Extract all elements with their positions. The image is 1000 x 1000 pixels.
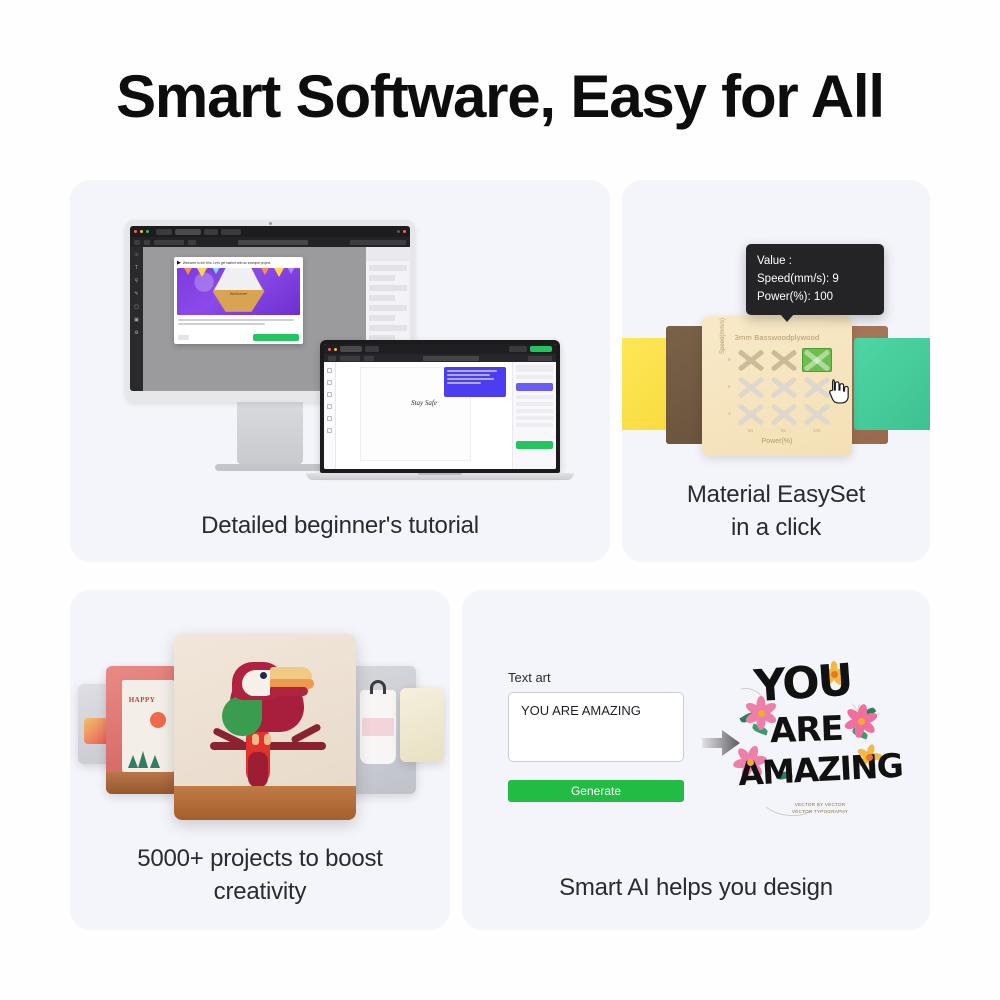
material-swatch-green[interactable] <box>854 338 930 430</box>
tab-item-active[interactable] <box>340 346 362 352</box>
laptop-right-panel <box>512 362 556 469</box>
laptop-left-toolbar <box>324 362 336 469</box>
layers-icon[interactable] <box>327 428 332 433</box>
window-close-icon[interactable] <box>403 230 406 233</box>
material-stage: 3mm Basswoodplywood Speed(mm/s) 60 80 10… <box>622 216 930 416</box>
laptop-cta-chip[interactable] <box>530 346 552 352</box>
x-tick-0: 60 <box>748 428 753 433</box>
pen-icon[interactable] <box>327 404 332 409</box>
panel-row[interactable] <box>369 275 395 281</box>
welcome-modal-header: ▶ Welcome to ed! Hhs. Let's get started … <box>174 257 303 268</box>
toolbar-forward-icon[interactable] <box>144 240 150 245</box>
tab-item-active[interactable] <box>175 229 201 235</box>
page-title: Smart Software, Easy for All <box>0 64 1000 130</box>
x-tick-2: 100 <box>813 428 821 433</box>
photo-holiday-card[interactable]: HAPPY <box>106 666 178 794</box>
pen-icon[interactable]: ✎ <box>134 291 140 297</box>
grid-cell[interactable] <box>769 348 799 372</box>
hero-label: Welcome! <box>230 291 248 297</box>
artwork-credit: VECTOR BY VECTOR VECTOR TYPOGRAPHY <box>792 802 848 816</box>
panel-row[interactable] <box>516 375 553 379</box>
test-grid: 60 80 100 9 6 3 <box>736 348 832 426</box>
laptop-canvas[interactable]: Stay Safe <box>336 362 512 469</box>
toolbar-icon[interactable] <box>528 356 552 361</box>
card-caption-projects: 5000+ projects to boost creativity <box>70 843 450 908</box>
panel-row[interactable] <box>369 265 407 271</box>
grid-cell[interactable] <box>736 375 766 399</box>
laptop-app-titlebar <box>324 344 556 354</box>
welcome-hero-image: Welcome! <box>177 268 300 315</box>
projects-gallery: HAPPY <box>70 614 450 834</box>
laptop-device: Stay Safe <box>320 340 560 480</box>
y-tick-0: 9 <box>728 357 731 362</box>
promo-page: Smart Software, Easy for All <box>0 0 1000 1000</box>
artwork-line-1: YOU <box>752 655 853 713</box>
monitor-stand-neck <box>237 402 303 464</box>
tab-item[interactable] <box>156 229 172 235</box>
search-icon[interactable]: ⚲ <box>134 278 140 284</box>
canvas-info-popup <box>444 367 506 397</box>
toolbar-menu[interactable] <box>154 240 184 245</box>
monitor-stand-foot <box>215 464 325 471</box>
document-title-chip <box>238 240 308 245</box>
caption-line-2: in a click <box>622 512 930 544</box>
minimize-icon[interactable] <box>334 348 337 351</box>
text-art-label: Text art <box>508 670 684 685</box>
value-tooltip: Value : Speed(mm/s): 9 Power(%): 100 <box>746 244 884 315</box>
skip-button[interactable] <box>178 335 189 340</box>
toolbar-back-icon[interactable] <box>134 240 140 245</box>
toolbar-right-chip[interactable] <box>350 240 406 245</box>
panel-row[interactable] <box>369 285 407 291</box>
card-material-easyset: 3mm Basswoodplywood Speed(mm/s) 60 80 10… <box>622 180 930 562</box>
card-detailed-tutorial: ☉ T ⚲ ✎ ▢ ▣ ⚙ ▶ Welco <box>70 180 610 562</box>
grid-cell-selected[interactable] <box>802 348 832 372</box>
panel-row[interactable] <box>516 416 553 420</box>
grid-cell[interactable] <box>769 375 799 399</box>
holiday-card-text: HAPPY <box>106 696 178 704</box>
photo-far-right[interactable] <box>400 688 444 762</box>
panel-row[interactable] <box>516 423 553 427</box>
panel-row[interactable] <box>516 409 553 413</box>
canvas-artwork-text: Stay Safe <box>411 399 437 407</box>
panel-primary-button[interactable] <box>516 383 553 391</box>
toolbar-title-chip <box>423 356 479 361</box>
card-caption-ai: Smart AI helps you design <box>462 872 930 904</box>
laptop-workspace: Stay Safe <box>324 362 556 469</box>
caption-line-2: creativity <box>70 876 450 908</box>
generate-button[interactable]: Generate <box>508 780 684 802</box>
artwork-line-3: AMAZING <box>737 746 903 794</box>
grid-cell[interactable] <box>802 402 832 426</box>
window-control-icon[interactable] <box>397 230 400 233</box>
card-smart-ai: Text art Generate <box>462 590 930 930</box>
left-toolbar: ☉ T ⚲ ✎ ▢ ▣ ⚙ <box>130 247 143 391</box>
photo-toucan-craft[interactable] <box>174 634 356 820</box>
image-icon[interactable]: ▣ <box>134 317 140 323</box>
minimize-icon[interactable] <box>140 230 143 233</box>
laptop-notch <box>418 473 462 475</box>
hand-cursor-icon <box>828 378 850 404</box>
tab-item[interactable] <box>365 346 379 352</box>
laptop-base <box>306 473 574 480</box>
flower-icon <box>844 704 878 738</box>
hexagon-badge-top <box>215 268 263 290</box>
cursor-icon[interactable] <box>327 368 332 373</box>
grid-cell[interactable] <box>769 402 799 426</box>
grid-cell[interactable] <box>736 348 766 372</box>
laptop-app-toolbar <box>324 354 556 362</box>
text-icon[interactable]: T <box>134 265 140 271</box>
panel-row[interactable] <box>369 315 395 321</box>
panel-process-button[interactable] <box>516 441 553 449</box>
tooltip-title: Value : <box>757 253 873 271</box>
tab-item[interactable] <box>204 229 218 235</box>
toucan-artwork <box>208 656 328 796</box>
axis-label-speed: Speed(mm/s) <box>720 318 726 354</box>
toolbar-icon[interactable] <box>364 356 374 361</box>
artwork-line-2: ARE <box>769 709 843 752</box>
shapes-icon[interactable]: ▢ <box>134 304 140 310</box>
tooltip-speed: Speed(mm/s): 9 <box>757 271 873 289</box>
material-test-board: 3mm Basswoodplywood Speed(mm/s) 60 80 10… <box>702 316 852 456</box>
cursor-icon[interactable]: ☉ <box>134 252 140 258</box>
close-icon[interactable] <box>328 348 331 351</box>
shape-icon[interactable] <box>327 392 332 397</box>
tooltip-power: Power(%): 100 <box>757 289 873 307</box>
y-tick-2: 3 <box>728 411 731 416</box>
generated-artwork: YOU ARE AMAZING VECTOR BY VECTOR VECTOR … <box>730 652 890 820</box>
panel-header <box>516 365 553 372</box>
image-icon[interactable] <box>327 416 332 421</box>
welcome-modal-heading: Welcome to ed! Hhs. Let's get started wi… <box>183 261 271 265</box>
card-caption-tutorial: Detailed beginner's tutorial <box>70 510 610 542</box>
card-projects: HAPPY <box>70 590 450 930</box>
laptop-screen: Stay Safe <box>324 344 556 469</box>
tab-item[interactable] <box>509 346 527 352</box>
app-titlebar <box>130 226 410 237</box>
get-started-button[interactable] <box>253 334 299 341</box>
close-icon[interactable] <box>134 230 137 233</box>
caption-line-1: 5000+ projects to boost <box>70 843 450 875</box>
y-tick-1: 6 <box>728 384 731 389</box>
axis-label-power: Power(%) <box>702 438 852 445</box>
panel-row[interactable] <box>369 325 407 331</box>
panel-header <box>366 247 410 261</box>
grid-cell[interactable] <box>736 402 766 426</box>
text-art-form: Text art Generate <box>508 670 684 802</box>
tab-item[interactable] <box>221 229 241 235</box>
panel-row[interactable] <box>516 402 553 406</box>
welcome-modal-body <box>178 319 299 325</box>
x-tick-1: 80 <box>781 428 786 433</box>
caption-line-1: Material EasySet <box>622 479 930 511</box>
settings-icon[interactable]: ⚙ <box>134 330 140 336</box>
laptop-lid: Stay Safe <box>320 340 560 473</box>
panel-row[interactable] <box>369 295 395 301</box>
panel-row[interactable] <box>369 305 407 311</box>
toolbar-icon[interactable] <box>328 356 336 361</box>
app-toolbar <box>130 237 410 247</box>
maximize-icon[interactable] <box>146 230 149 233</box>
toolbar-icon[interactable] <box>188 240 196 245</box>
panel-row[interactable] <box>516 395 553 399</box>
welcome-modal: ▶ Welcome to ed! Hhs. Let's get started … <box>174 257 303 344</box>
welcome-modal-footer <box>174 334 303 341</box>
toolbar-icon[interactable] <box>340 356 360 361</box>
card-caption-material: Material EasySet in a click <box>622 479 930 544</box>
text-art-input[interactable] <box>508 692 684 762</box>
webcam-icon <box>269 222 272 225</box>
text-icon[interactable] <box>327 380 332 385</box>
